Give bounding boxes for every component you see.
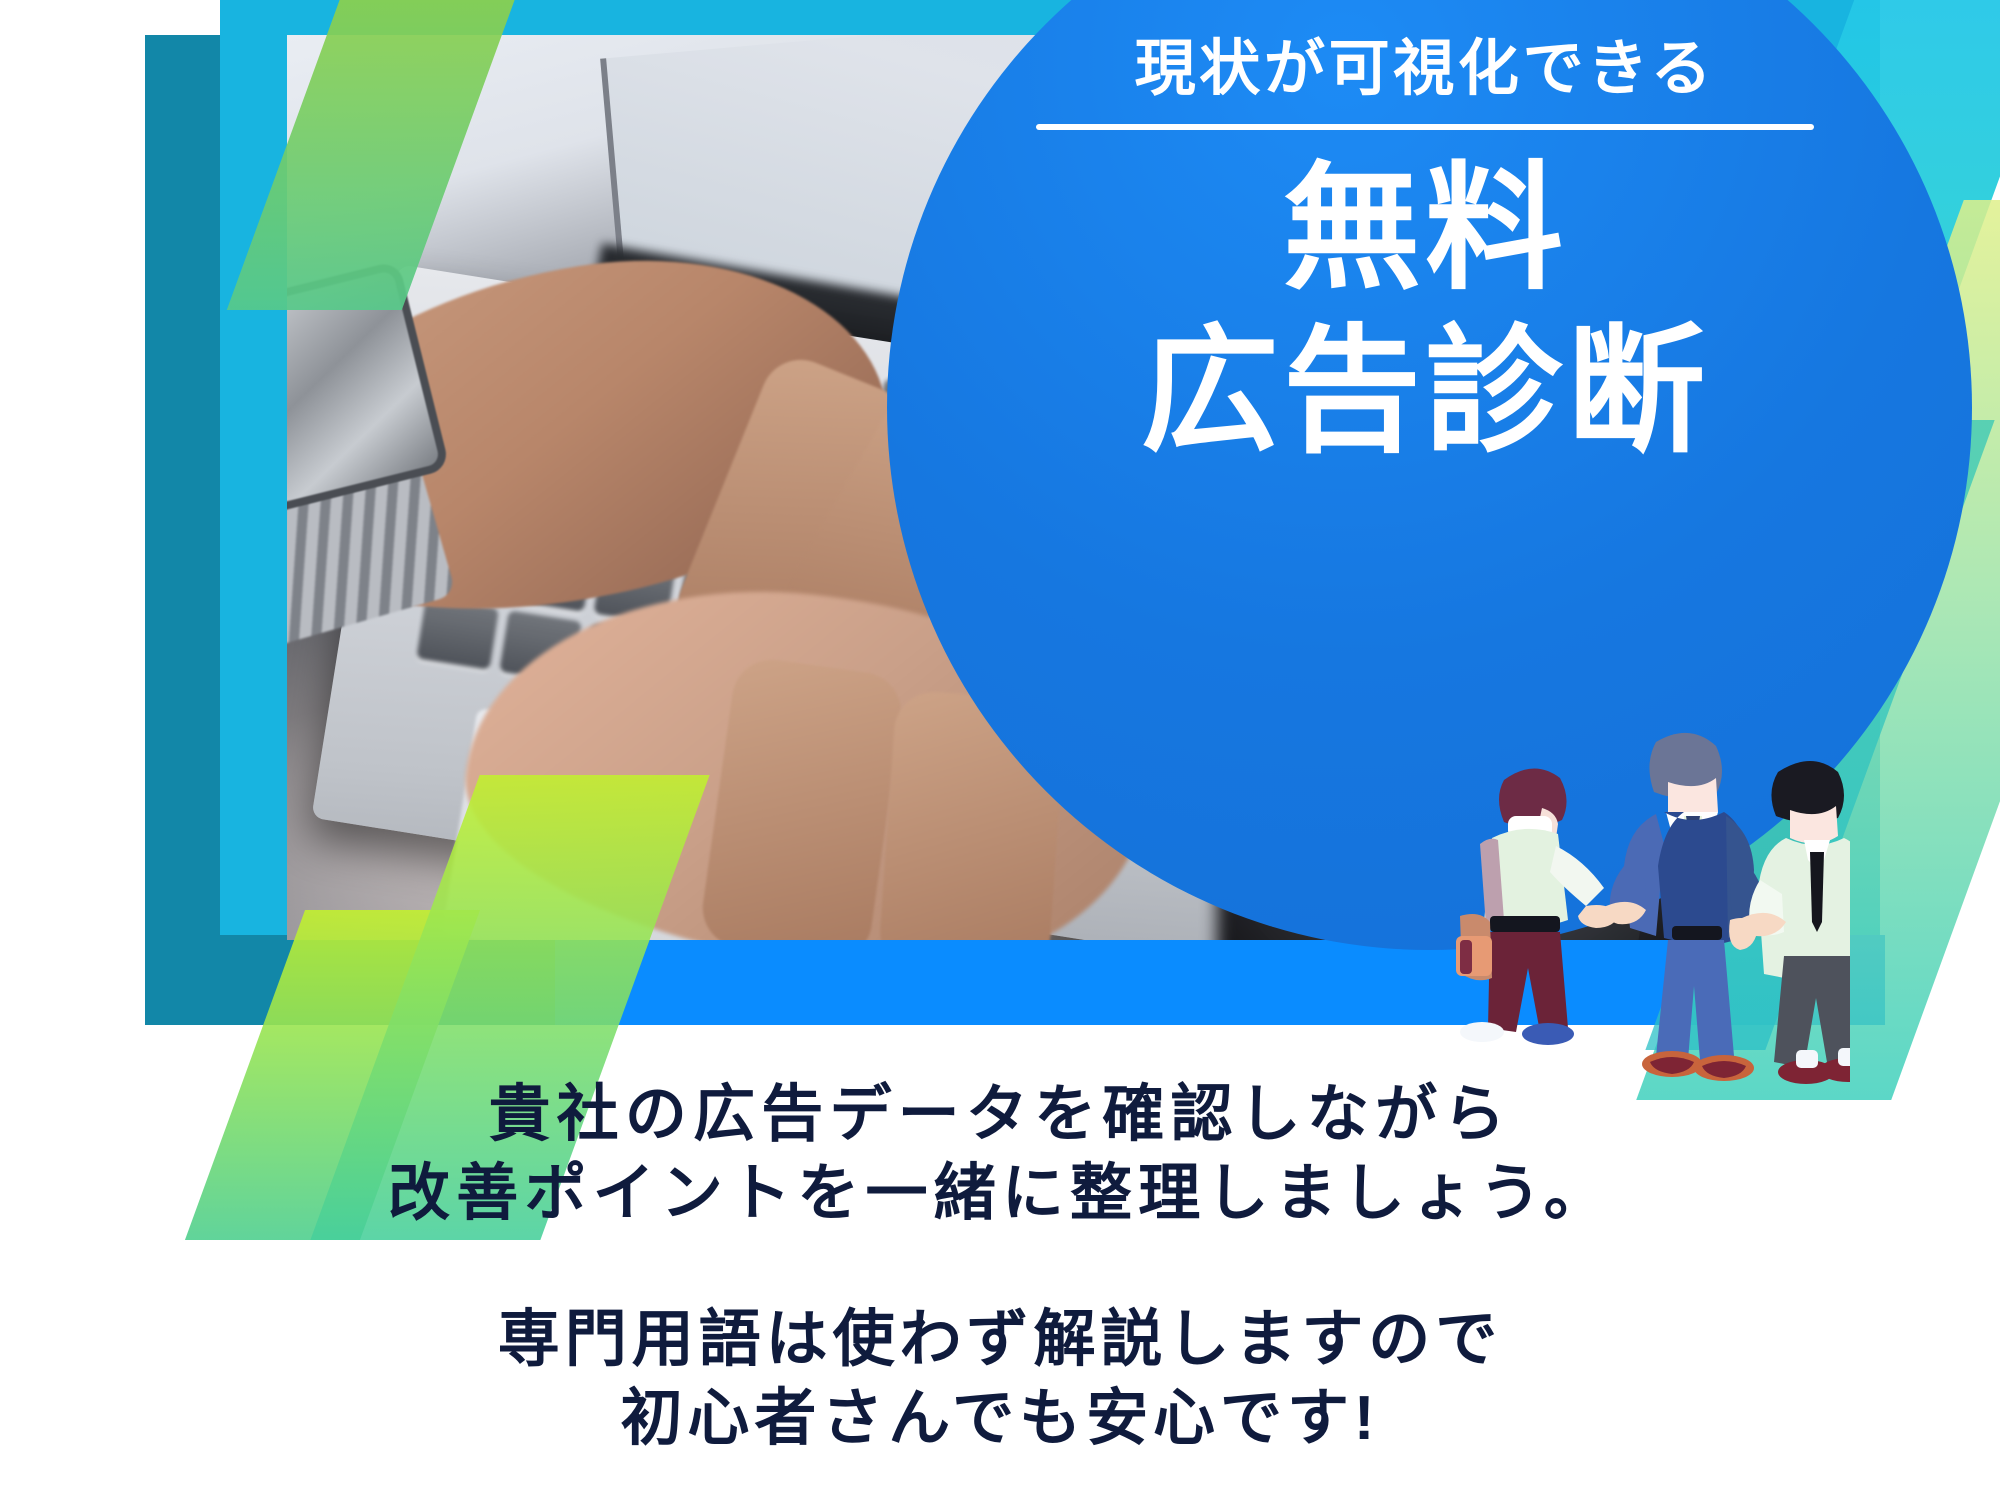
badge-title-line1: 無料 [1000,148,1850,311]
caption-secondary-line1: 専門用語は使わず解説しますので [0,1300,2000,1379]
badge-divider [1036,124,1814,130]
poster-canvas: 現状が可視化できる 無料 広告診断 [0,0,2000,1500]
caption-block: 貴社の広告データを確認しながら 改善ポイントを一緒に整理しましょう。 専門用語は… [0,1075,2000,1458]
badge-content: 現状が可視化できる 無料 広告診断 [1000,35,1850,474]
person-right [1742,761,1850,1084]
badge-title-line2: 広告診断 [1000,311,1850,474]
person-center [1606,733,1765,1081]
badge-subtitle: 現状が可視化できる [1000,35,1850,102]
caption-primary-line2: 改善ポイントを一緒に整理しましょう。 [0,1154,2000,1233]
person-left [1456,768,1620,1045]
caption-primary-line1: 貴社の広告データを確認しながら [0,1075,2000,1154]
caption-secondary-line2: 初心者さんでも安心です! [0,1379,2000,1458]
